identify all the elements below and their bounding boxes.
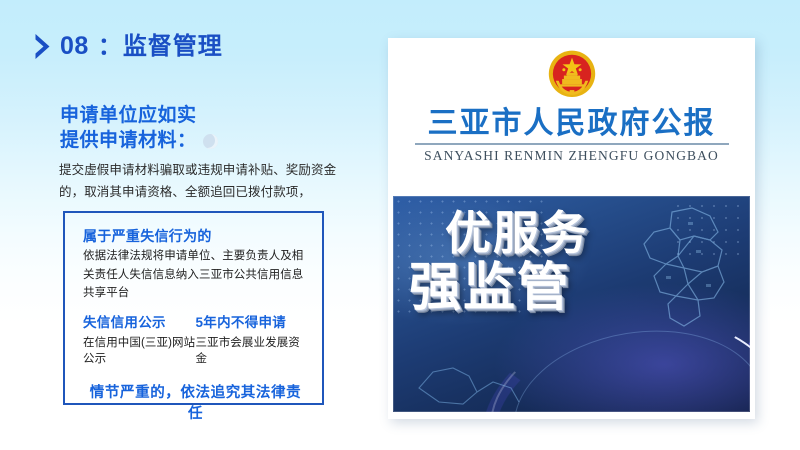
severe-breach-body: 依据法律法规将申请单位、主要负责人及相关责任人失信信息纳入三亚市公共信用信息共享… [83,247,308,303]
penalty-column-body: 在信用中国(三亚)网站公示 [83,335,196,368]
penalty-columns: 失信信用公示 在信用中国(三亚)网站公示 5年内不得申请 三亚市会展业发展资金 [83,314,308,368]
penalty-column-body: 三亚市会展业发展资金 [196,335,309,368]
gazette-pinyin: SANYASHI RENMIN ZHENGFU GONGBAO [424,148,719,164]
chevron-right-icon [34,33,51,60]
subtitle-line-2: 提供申请材料： [60,128,197,153]
banner-headline-1: 优服务 [445,210,639,256]
map-outline-lower-icon [415,348,535,408]
gazette-masthead: 三亚市人民政府公报 SANYASHI RENMIN ZHENGFU GONGBA… [388,38,755,196]
national-emblem-icon [543,46,601,104]
gazette-title: 三亚市人民政府公报 [428,107,716,140]
section-title-wrap: ：监督管理 [98,35,223,59]
photo-panel: 三亚市人民政府公报 SANYASHI RENMIN ZHENGFU GONGBA… [388,38,755,419]
intro-paragraph: 提交虚假申请材料骗取或违规申请补贴、奖励资金的，取消其申请资格、全额追回已拨付款… [59,160,351,203]
penalty-column-credit-disclosure: 失信信用公示 在信用中国(三亚)网站公示 [83,314,196,368]
subtitle-line-2-row: 提供申请材料： [60,128,360,153]
gazette-divider [415,143,729,145]
slide-canvas: 08 ：监督管理 申请单位应如实 提供申请材料： 提交虚假申请材料骗取或违规申请… [0,0,800,450]
penalty-column-heading: 5年内不得申请 [196,314,309,332]
penalty-column-five-year-ban: 5年内不得申请 三亚市会展业发展资金 [196,314,309,368]
section-heading: 08 ：监督管理 [34,33,223,60]
left-content-column: 08 ：监督管理 申请单位应如实 提供申请材料： 提交虚假申请材料骗取或违规申请… [0,0,380,450]
penalty-card: 属于严重失信行为的 依据法律法规将申请单位、主要负责人及相关责任人失信信息纳入三… [63,211,324,405]
penalty-column-heading: 失信信用公示 [83,314,196,332]
banner-text-block: 优服务 强监管 [409,210,639,314]
final-warning: 情节严重的，依法追究其法律责任 [83,381,308,423]
service-banner-image: 优服务 强监管 [393,196,750,412]
subtitle-line-1: 申请单位应如实 [60,103,360,128]
banner-headline-2: 强监管 [409,262,639,314]
subtitle-block: 申请单位应如实 提供申请材料： [60,103,360,153]
circle-decoration-icon [203,134,218,149]
severe-breach-heading: 属于严重失信行为的 [83,227,308,245]
penalty-card-inner: 属于严重失信行为的 依据法律法规将申请单位、主要负责人及相关责任人失信信息纳入三… [65,213,322,423]
section-number: 08 [60,34,89,59]
section-separator: ： [98,33,123,60]
section-title: 监督管理 [123,33,223,60]
